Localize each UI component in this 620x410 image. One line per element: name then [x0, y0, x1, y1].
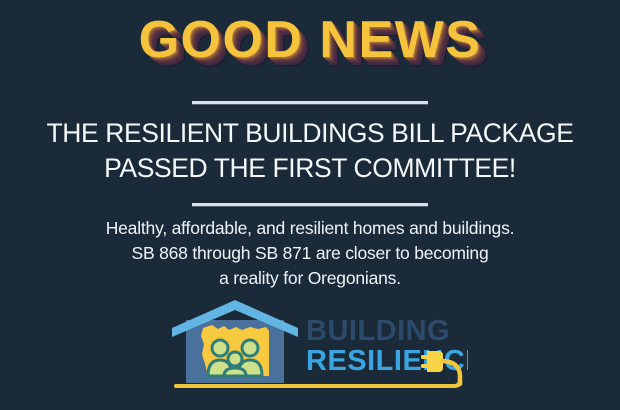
headline-line-1: The Resilient Buildings Bill Package: [0, 116, 620, 151]
family-child-head: [228, 352, 242, 366]
plug-prong-top: [421, 355, 428, 359]
kicker-container: GOOD NEWS: [0, 14, 620, 66]
family-adult-left-head: [212, 340, 228, 356]
page-title: The Resilient Buildings Bill Package pas…: [0, 116, 620, 186]
divider-middle: [192, 203, 428, 206]
plug-head: [427, 351, 443, 372]
good-news-announcement-poster: GOOD NEWS The Resilient Buildings Bill P…: [0, 0, 620, 410]
house-icon: [172, 300, 298, 383]
kicker-good-news: GOOD NEWS: [139, 14, 482, 66]
plug-prong-bottom: [421, 364, 428, 368]
logo-word-building: BUILDING: [306, 315, 450, 347]
body-line-2: SB 868 through SB 871 are closer to beco…: [0, 241, 620, 266]
divider-top: [192, 101, 428, 104]
body-line-3: a reality for Oregonians.: [0, 266, 620, 291]
headline-line-2: passed the first committee!: [0, 151, 620, 186]
family-child-body: [224, 368, 246, 376]
building-resilience-logo: BUILDING RESILIENCE: [168, 298, 468, 398]
family-adult-right-head: [242, 340, 258, 356]
body-line-1: Healthy, affordable, and resilient homes…: [0, 216, 620, 241]
body-copy: Healthy, affordable, and resilient homes…: [0, 216, 620, 291]
